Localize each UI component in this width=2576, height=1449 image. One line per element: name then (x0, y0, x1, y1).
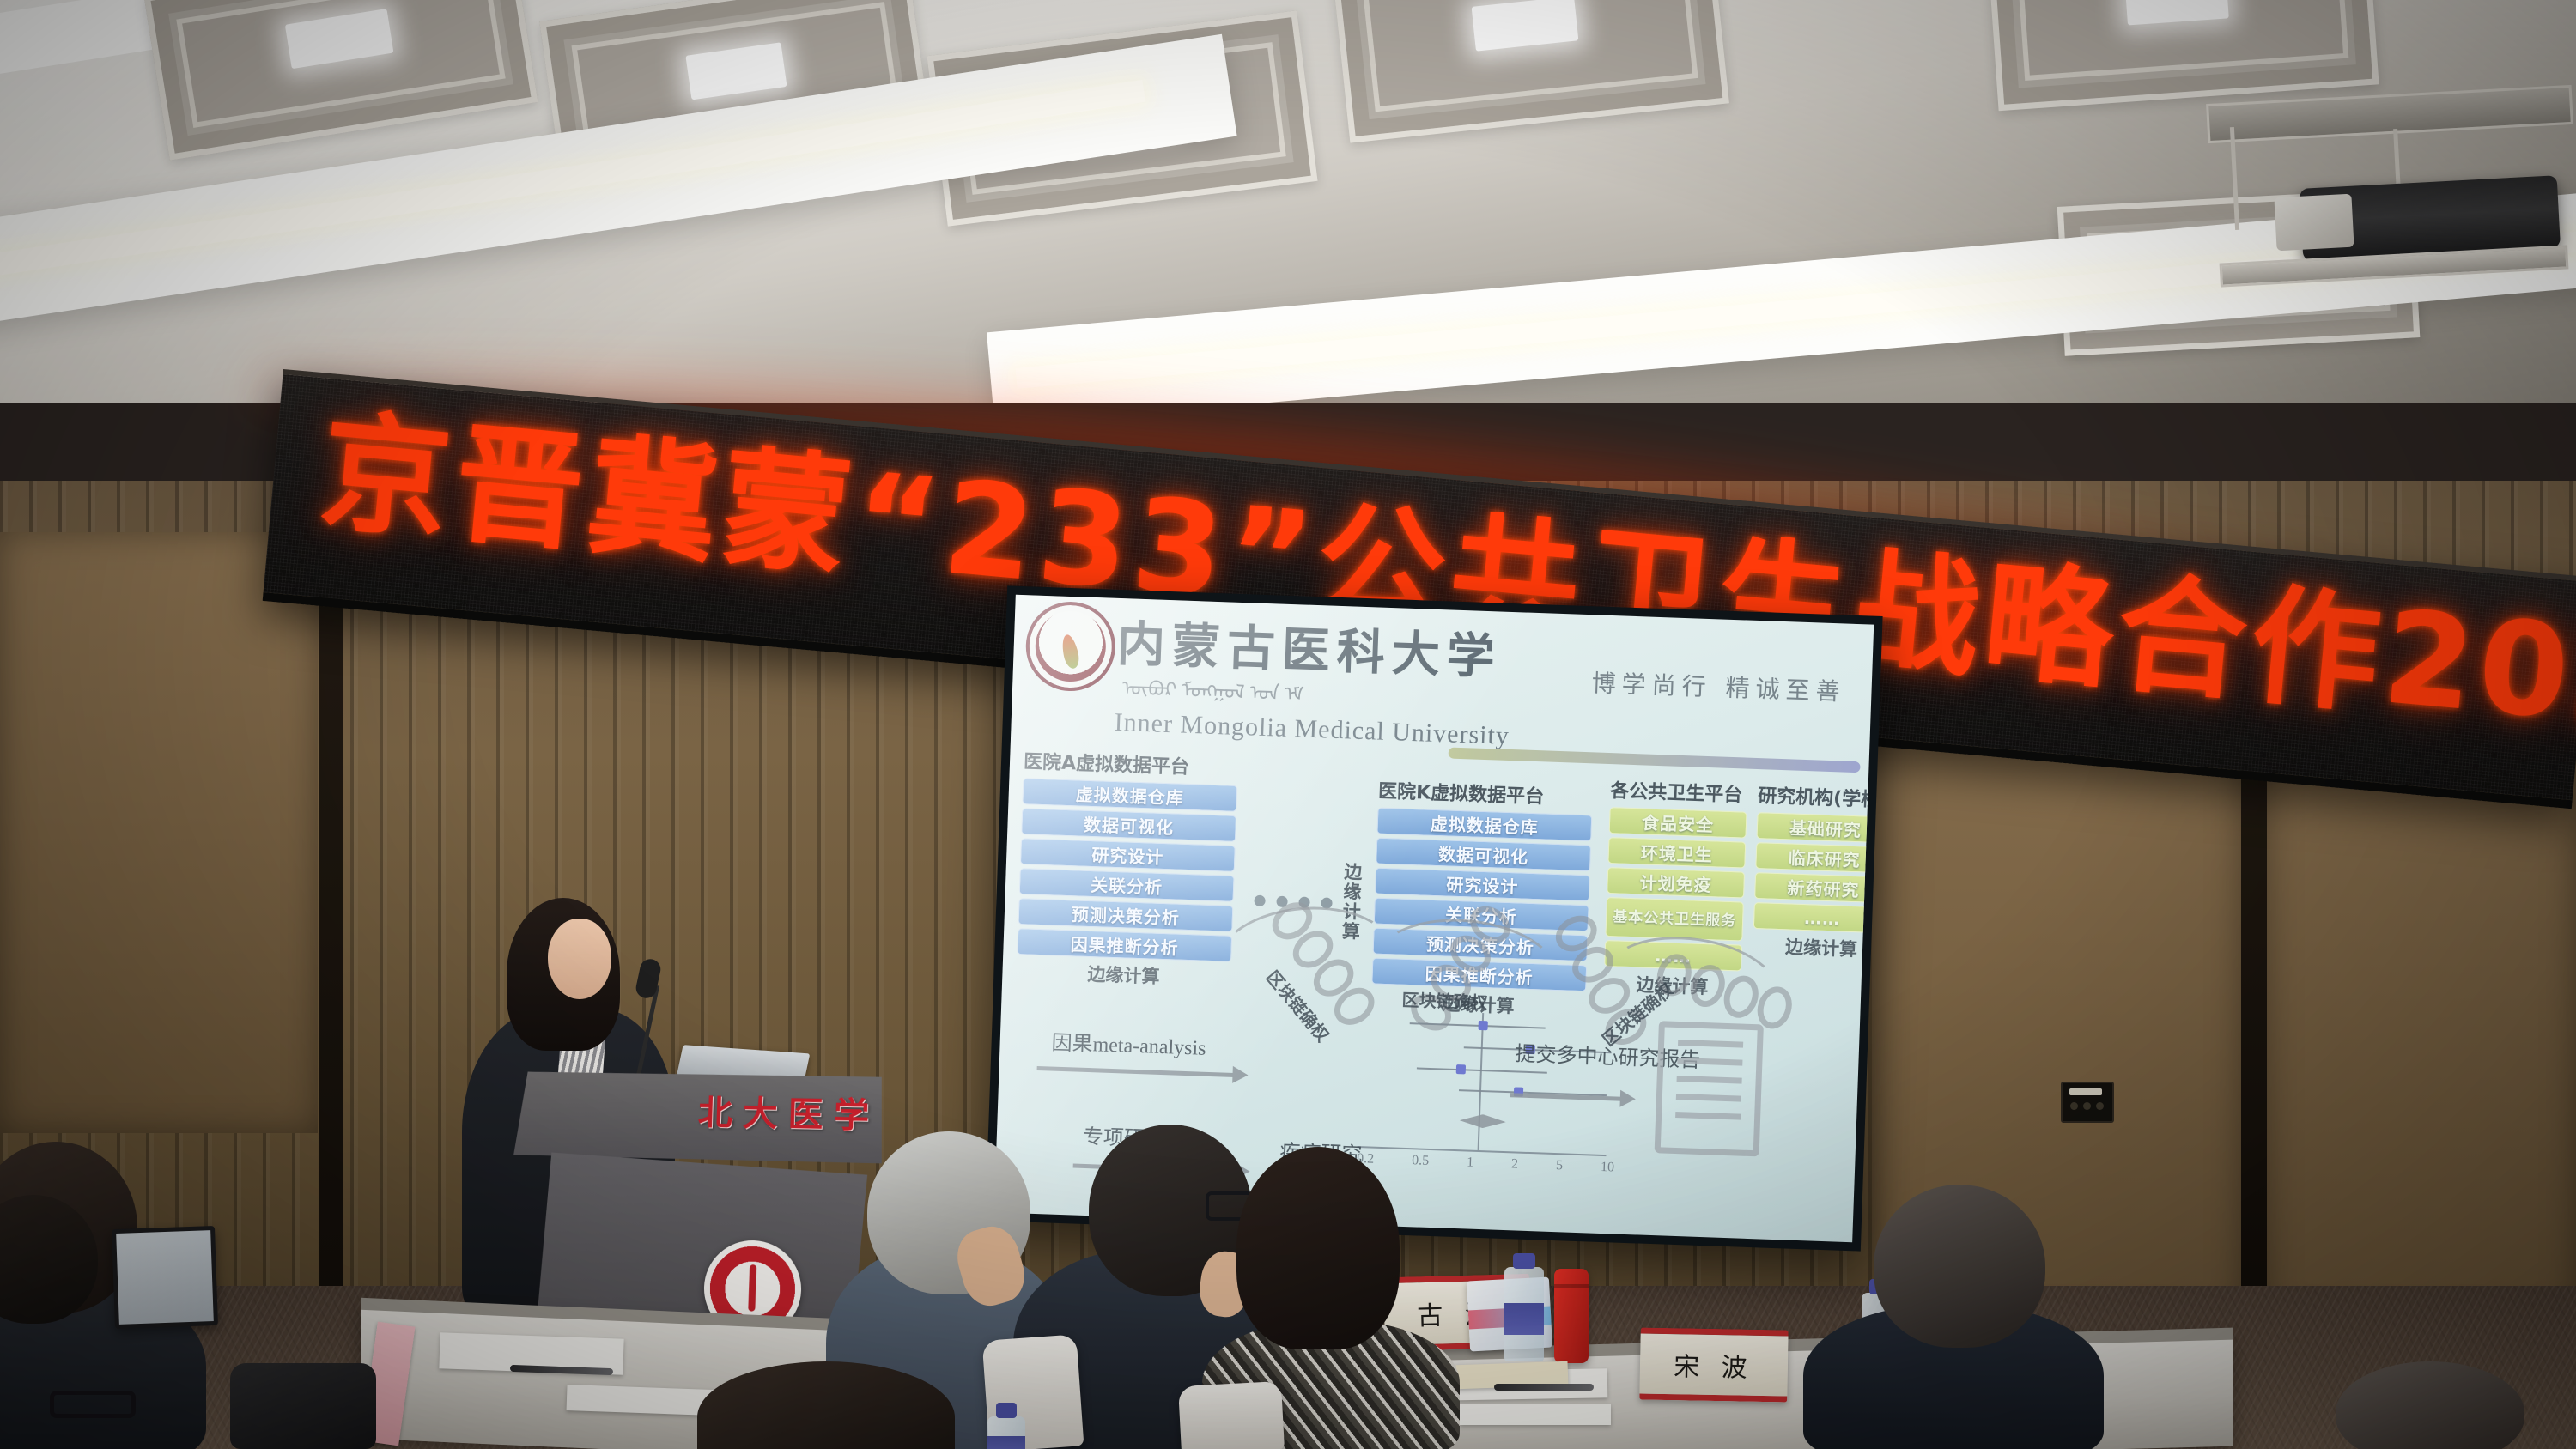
audience-head (1874, 1185, 2045, 1348)
forest-summary-diamond (1460, 1113, 1507, 1129)
speaker-face (548, 919, 611, 999)
node: 虚拟数据仓库 (1376, 808, 1592, 842)
forest-point (1478, 1021, 1487, 1030)
report-document-icon (1655, 1021, 1764, 1156)
backpack (230, 1363, 376, 1449)
tick-label: 5 (1556, 1158, 1564, 1173)
paper-sheet[interactable] (567, 1385, 714, 1416)
university-logo-icon (1024, 600, 1117, 693)
platform-label: 研究机构(学校) (1758, 780, 1874, 813)
slide-motto: 博学尚行 精诚至善 (1591, 664, 1846, 707)
ceiling-coffer (1986, 0, 2379, 111)
slide-university-name-mn: ᠦᠪᠦᠷ ᠮᠣᠩᠭᠣᠯ ᠤᠨ ᠡᠮ (1122, 665, 1305, 706)
platform-label: 医院K虚拟数据平台 (1378, 776, 1594, 811)
water-bottle[interactable] (987, 1416, 1025, 1449)
slide-university-name-en: Inner Mongolia Medical University (1114, 708, 1510, 751)
node: 数据可视化 (1021, 808, 1236, 842)
tick-label: 2 (1511, 1156, 1519, 1172)
node-stack: 虚拟数据仓库 数据可视化 研究设计 关联分析 预测决策分析 因果推断分析 (1017, 778, 1237, 962)
node: 环境卫生 (1607, 837, 1746, 869)
wall-outlet[interactable] (2061, 1082, 2114, 1123)
podium-sign-text: 北大医学 (697, 1085, 880, 1138)
flow-arrow (1037, 1066, 1235, 1077)
node: 基础研究 (1756, 812, 1874, 844)
flow-label-meta-analysis: 因果meta-analysis (1051, 1026, 1206, 1061)
edge-computing-label: 边缘计算 (1753, 932, 1874, 963)
paper-sheet[interactable] (1460, 1404, 1611, 1425)
node: 研究设计 (1375, 868, 1590, 902)
node: 预测决策分析 (1018, 898, 1233, 932)
water-bottle[interactable] (1504, 1267, 1544, 1361)
forest-point (1456, 1064, 1466, 1074)
node: 食品安全 (1609, 807, 1747, 839)
glasses-icon (50, 1391, 136, 1418)
conference-room-photo: 京晋冀蒙“233”公共卫生战略合作2024年第一次工作会议 内蒙古医科大学 ᠦᠪ… (0, 0, 2576, 1449)
ceiling-coffer (143, 0, 538, 161)
node: …… (1753, 902, 1874, 934)
forest-null-line (1478, 1013, 1485, 1150)
node-stack: 基础研究 临床研究 新药研究 …… (1753, 812, 1874, 934)
audience-head (1236, 1147, 1400, 1349)
node: 虚拟数据仓库 (1022, 778, 1237, 812)
tick-label: 1 (1467, 1155, 1474, 1171)
edge-computing-label: 边缘计算 (1016, 958, 1231, 991)
node: 因果推断分析 (1017, 928, 1232, 962)
platform-column-hospital-a: 医院A虚拟数据平台 虚拟数据仓库 数据可视化 研究设计 关联分析 预测决策分析 … (1016, 746, 1239, 991)
tick-label: 10 (1601, 1160, 1615, 1176)
node: 临床研究 (1755, 842, 1874, 874)
chair-back[interactable] (1178, 1381, 1285, 1449)
platform-column-research: 研究机构(学校) 基础研究 临床研究 新药研究 …… 边缘计算 (1753, 780, 1874, 962)
slide-accent-band (1449, 747, 1861, 773)
platform-label: 各公共卫生平台 (1610, 775, 1748, 808)
pen[interactable] (1494, 1384, 1594, 1391)
node: 数据可视化 (1376, 838, 1591, 872)
name-card-text: 宋 波 (1674, 1345, 1754, 1385)
node: 计划免疫 (1607, 867, 1745, 899)
red-thermos[interactable] (1554, 1269, 1589, 1363)
tick-label: 0.5 (1412, 1153, 1430, 1169)
name-card: 宋 波 (1639, 1328, 1788, 1403)
node: 新药研究 (1754, 872, 1874, 904)
node: 研究设计 (1020, 838, 1236, 872)
monitor (112, 1226, 218, 1329)
flow-label-report: 提交多中心研究报告 (1515, 1041, 1619, 1070)
ceiling-coffer (1331, 0, 1729, 143)
wall-panel (0, 532, 318, 1133)
ceiling (0, 0, 2576, 403)
platform-label: 医院A虚拟数据平台 (1024, 746, 1239, 781)
node: 基本公共卫生服务 (1605, 897, 1744, 942)
projector-lens (2274, 194, 2354, 252)
node: 关联分析 (1019, 868, 1235, 902)
